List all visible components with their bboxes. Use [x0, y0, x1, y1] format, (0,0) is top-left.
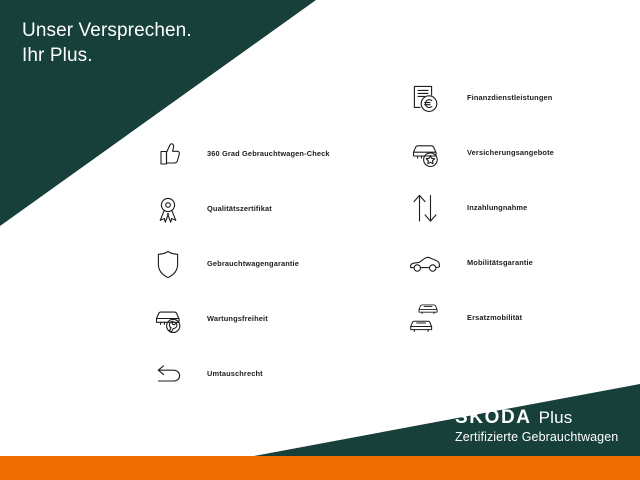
list-item-label: Inzahlungnahme	[467, 203, 527, 212]
feature-column-right: Finanzdienstleistungen Versicherungsange…	[402, 70, 554, 345]
two-cars-icon	[402, 295, 448, 341]
list-item: Mobilitätsgarantie	[402, 235, 554, 290]
list-item: Qualitätszertifikat	[145, 181, 330, 236]
list-item-label: Wartungsfreiheit	[207, 314, 268, 323]
list-item-label: Umtauschrecht	[207, 369, 263, 378]
list-item: Finanzdienstleistungen	[402, 70, 554, 125]
list-item-label: 360 Grad Gebrauchtwagen-Check	[207, 149, 330, 158]
shield-icon	[145, 241, 191, 287]
list-item-label: Qualitätszertifikat	[207, 204, 272, 213]
list-item: 360 Grad Gebrauchtwagen-Check	[145, 126, 330, 181]
list-item-label: Gebrauchtwagengarantie	[207, 259, 299, 268]
list-item-label: Mobilitätsgarantie	[467, 258, 533, 267]
headline-line-2: Ihr Plus.	[22, 43, 192, 68]
plus-wordmark: Plus	[539, 408, 573, 427]
slide-canvas: Unser Versprechen. Ihr Plus. 360 Grad Ge…	[0, 0, 640, 480]
skoda-wordmark: ŠKODA	[455, 408, 532, 427]
car-star-icon	[402, 130, 448, 176]
brand-logo-row: ŠKODA Plus	[455, 408, 618, 428]
document-euro-icon	[402, 75, 448, 121]
list-item: Inzahlungnahme	[402, 180, 554, 235]
up-down-arrows-icon	[402, 185, 448, 231]
return-arrow-icon	[145, 351, 191, 397]
list-item: Versicherungsangebote	[402, 125, 554, 180]
brand-tagline: Zertifizierte Gebrauchtwagen	[455, 430, 618, 445]
headline-line-1: Unser Versprechen.	[22, 18, 192, 43]
list-item: Wartungsfreiheit	[145, 291, 330, 346]
page-title: Unser Versprechen. Ihr Plus.	[22, 18, 192, 68]
list-item: Umtauschrecht	[145, 346, 330, 401]
feature-column-left: 360 Grad Gebrauchtwagen-Check Qualitätsz…	[145, 126, 330, 401]
brand-logo-block: ŠKODA Plus Zertifizierte Gebrauchtwagen	[455, 408, 618, 445]
list-item: Gebrauchtwagengarantie	[145, 236, 330, 291]
car-wrench-icon	[145, 296, 191, 342]
award-ribbon-icon	[145, 186, 191, 232]
orange-accent-bar	[0, 456, 640, 480]
list-item-label: Ersatzmobilität	[467, 313, 522, 322]
thumbs-up-icon	[145, 131, 191, 177]
list-item-label: Versicherungsangebote	[467, 148, 554, 157]
car-side-icon	[402, 240, 448, 286]
list-item-label: Finanzdienstleistungen	[467, 93, 552, 102]
list-item: Ersatzmobilität	[402, 290, 554, 345]
